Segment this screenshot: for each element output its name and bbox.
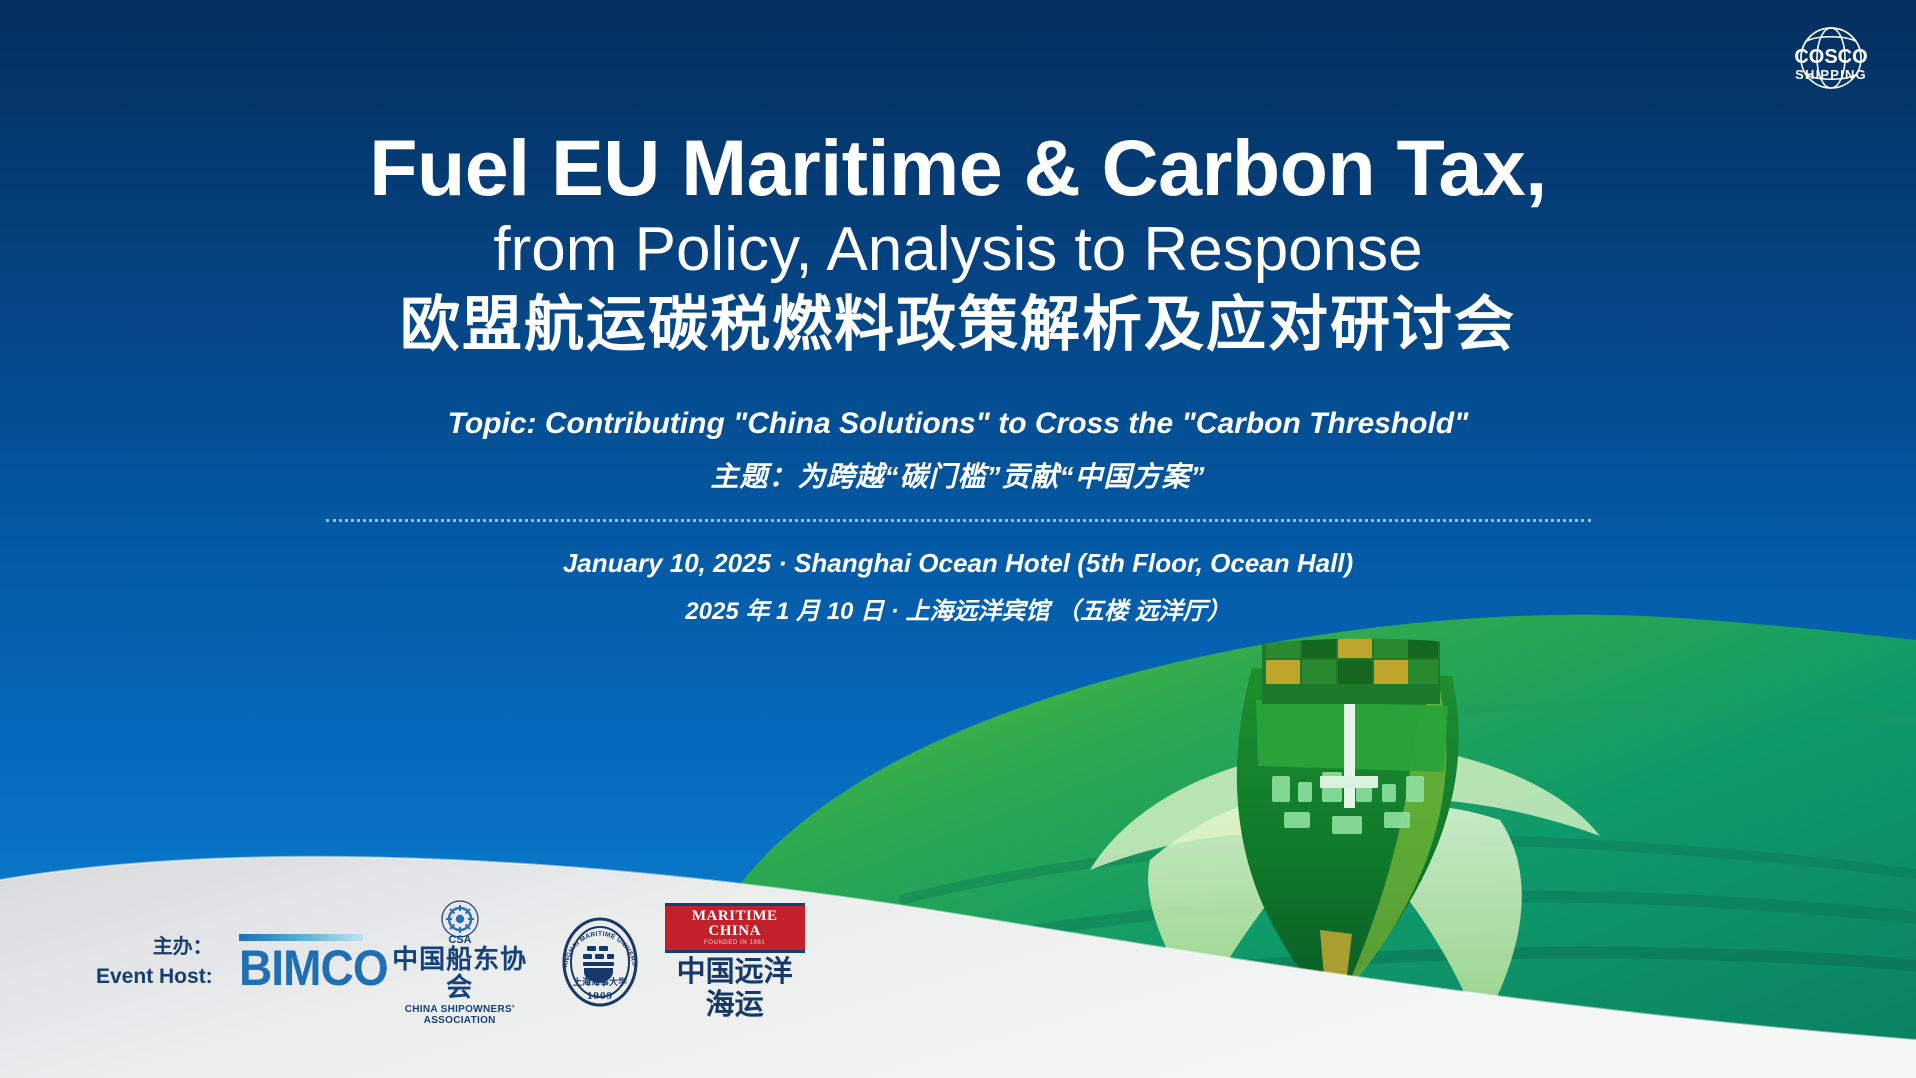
- dotted-divider: [326, 519, 1591, 522]
- title-chinese: 欧盟航运碳税燃料政策解析及应对研讨会: [0, 290, 1916, 361]
- csa-ships-wheel-icon: CSA: [434, 899, 486, 945]
- title-main: Fuel EU Maritime & Carbon Tax,: [0, 128, 1916, 207]
- conference-banner: COSCO SHIPPING Fuel EU Maritime & Carbon…: [0, 0, 1916, 1078]
- logo-maritime-china: MARITIME CHINA FOUNDED IN 1961 中国远洋海运: [665, 903, 805, 1023]
- maritime-china-banner: MARITIME CHINA FOUNDED IN 1961: [665, 903, 805, 953]
- maritime-china-name-cn: 中国远洋海运: [665, 956, 805, 1023]
- topic-chinese: 主题：为跨越“碳门槛”贡献“中国方案”: [0, 455, 1916, 495]
- event-host-label-en: Event Host:: [96, 962, 213, 992]
- event-date-venue-chinese: 2025 年 1 月 10 日 · 上海远洋宾馆 （五楼 远洋厅）: [0, 591, 1916, 626]
- logo-bimco: BIMCO: [239, 934, 363, 991]
- logo-shanghai-maritime-university: SHANGHAI MARITIME UNIVERSITY 上海海事大学 1909: [557, 916, 643, 1008]
- event-host-bar: 主办： Event Host: BIMCO: [96, 899, 805, 1026]
- smu-year: 1909: [587, 990, 613, 1002]
- csa-name-cn: 中国船东协会: [385, 945, 535, 1002]
- bimco-wordmark: BIMCO: [239, 945, 353, 991]
- smu-name-cn: 上海海事大学: [573, 976, 627, 987]
- logo-china-shipowners-association: CSA 中国船东协会 CHINA SHIPOWNERS' ASSOCIATION: [385, 899, 535, 1026]
- event-date-venue-english: January 10, 2025 · Shanghai Ocean Hotel …: [0, 548, 1916, 579]
- topic-english: Topic: Contributing "China Solutions" to…: [0, 407, 1916, 441]
- maritime-china-banner-sub: FOUNDED IN 1961: [665, 940, 805, 946]
- maritime-china-banner-en: MARITIME CHINA: [665, 909, 805, 939]
- banner-content: Fuel EU Maritime & Carbon Tax, from Poli…: [0, 0, 1916, 626]
- event-host-label: 主办： Event Host:: [96, 933, 213, 992]
- csa-name-en: CHINA SHIPOWNERS' ASSOCIATION: [385, 1004, 535, 1026]
- title-subtitle: from Policy, Analysis to Response: [0, 215, 1916, 284]
- event-host-label-cn: 主办：: [96, 933, 213, 962]
